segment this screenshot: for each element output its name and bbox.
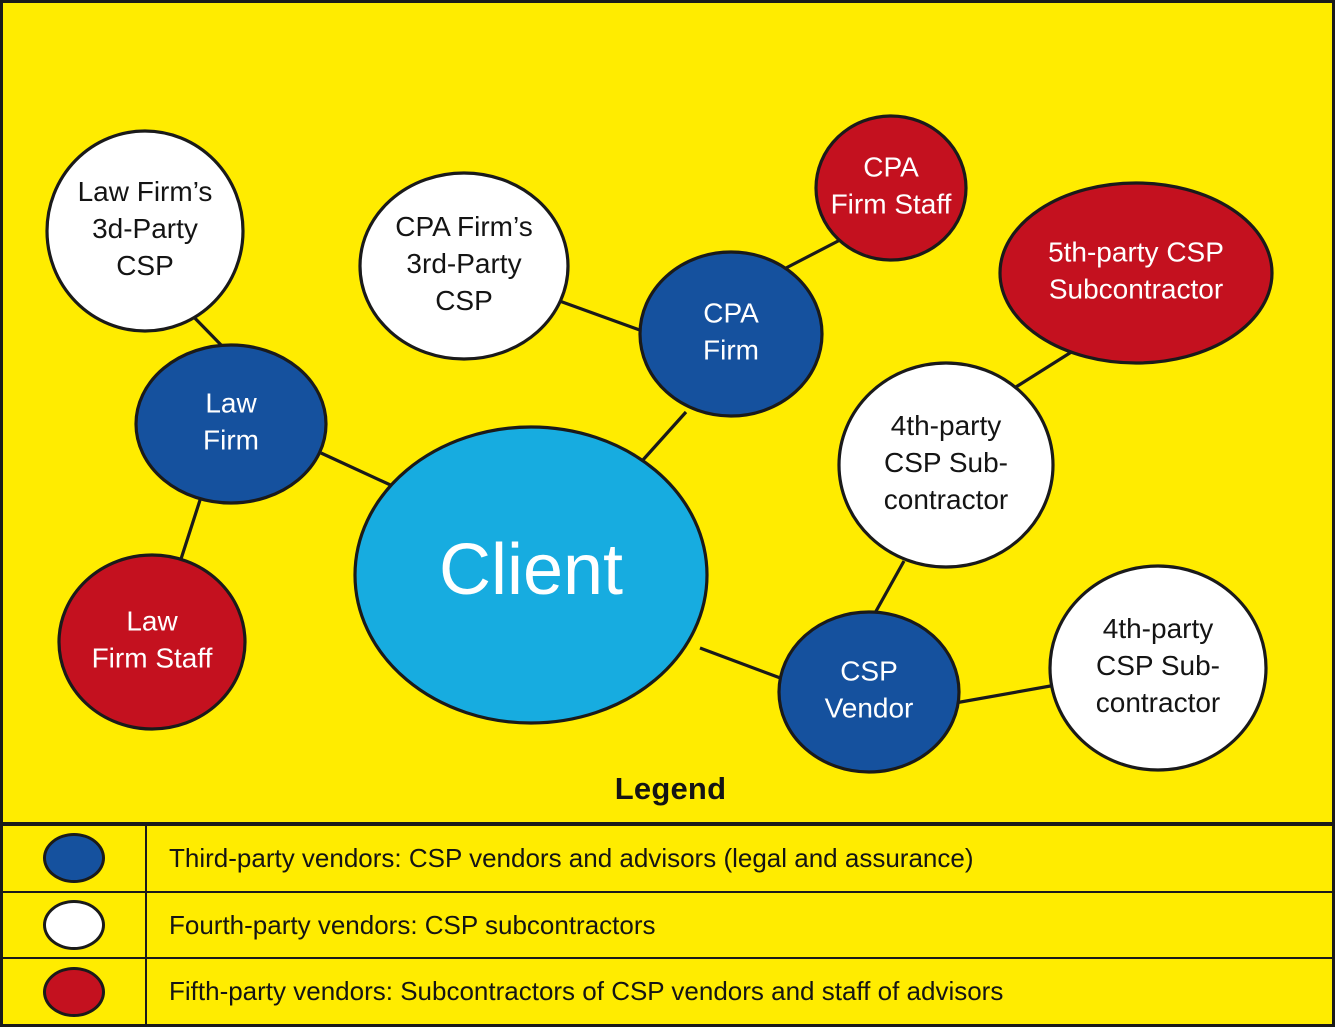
node-label-line: contractor bbox=[1096, 688, 1221, 719]
fourth-party-swatch bbox=[43, 900, 105, 950]
edge-law-firm-to-law-firm-staff bbox=[181, 497, 201, 559]
node-label-fourth-party-csp-subcontractor-2: 4th-partyCSP Sub-contractor bbox=[1096, 613, 1221, 718]
node-label-line: 3d-Party bbox=[92, 213, 198, 244]
node-label-line: contractor bbox=[884, 485, 1009, 516]
node-cpa-firm-3rd-party-csp[interactable]: CPA Firm’s3rd-PartyCSP bbox=[360, 173, 568, 359]
node-label-line: 3rd-Party bbox=[406, 248, 521, 279]
node-label-client: Client bbox=[439, 530, 623, 610]
legend-swatch-cell bbox=[3, 826, 147, 891]
node-shape-law-firm-staff bbox=[59, 555, 245, 729]
node-label-line: CSP Sub- bbox=[1096, 650, 1220, 681]
diagram-canvas: Law Firm’s3d-PartyCSPCPA Firm’s3rd-Party… bbox=[0, 0, 1335, 825]
node-label-line: CPA bbox=[703, 298, 759, 329]
node-shape-fifth-party-csp-subcontractor bbox=[1000, 183, 1272, 363]
legend-swatch-cell bbox=[3, 959, 147, 1024]
edge-law-firm-to-client bbox=[321, 453, 397, 488]
node-layer: Law Firm’s3d-PartyCSPCPA Firm’s3rd-Party… bbox=[47, 116, 1272, 772]
legend-row: Fourth-party vendors: CSP subcontractors bbox=[3, 893, 1332, 960]
node-csp-vendor[interactable]: CSPVendor bbox=[779, 612, 959, 772]
node-fourth-party-csp-subcontractor-2[interactable]: 4th-partyCSP Sub-contractor bbox=[1050, 566, 1266, 770]
node-law-firm-3d-party-csp[interactable]: Law Firm’s3d-PartyCSP bbox=[47, 131, 243, 331]
edge-cpa-firm-3rd-party-csp-to-cpa-firm bbox=[554, 299, 648, 333]
network-diagram-svg: Law Firm’s3d-PartyCSPCPA Firm’s3rd-Party… bbox=[3, 3, 1335, 828]
edge-fourth-party-csp-subcontractor-1-to-csp-vendor bbox=[875, 561, 904, 613]
node-label-line: Firm Staff bbox=[831, 189, 952, 220]
node-shape-csp-vendor bbox=[779, 612, 959, 772]
fifth-party-swatch bbox=[43, 967, 105, 1017]
node-label-line: CPA bbox=[863, 152, 919, 183]
node-label-line: Law bbox=[205, 388, 257, 419]
node-label-line: Subcontractor bbox=[1049, 274, 1223, 305]
node-label-line: Client bbox=[439, 530, 623, 610]
node-fifth-party-csp-subcontractor[interactable]: 5th-party CSPSubcontractor bbox=[1000, 183, 1272, 363]
node-cpa-firm-staff[interactable]: CPAFirm Staff bbox=[816, 116, 966, 260]
legend-row-text: Fourth-party vendors: CSP subcontractors bbox=[147, 893, 1332, 958]
edge-client-to-csp-vendor bbox=[700, 648, 783, 679]
third-party-swatch bbox=[43, 833, 105, 883]
node-client[interactable]: Client bbox=[355, 427, 707, 723]
legend-row: Fifth-party vendors: Subcontractors of C… bbox=[3, 959, 1332, 1024]
node-label-line: 4th-party bbox=[891, 410, 1002, 441]
node-label-line: Firm bbox=[203, 425, 259, 456]
node-label-line: CSP Sub- bbox=[884, 447, 1008, 478]
legend-swatch-cell bbox=[3, 893, 147, 958]
legend-row: Third-party vendors: CSP vendors and adv… bbox=[3, 826, 1332, 893]
node-shape-cpa-firm-staff bbox=[816, 116, 966, 260]
node-shape-law-firm bbox=[136, 345, 326, 503]
node-fourth-party-csp-subcontractor-1[interactable]: 4th-partyCSP Sub-contractor bbox=[839, 363, 1053, 567]
node-label-line: CSP bbox=[435, 286, 493, 317]
node-label-line: CSP bbox=[116, 251, 174, 282]
legend-row-text: Fifth-party vendors: Subcontractors of C… bbox=[147, 959, 1332, 1024]
vendor-ecosystem-diagram-page: Law Firm’s3d-PartyCSPCPA Firm’s3rd-Party… bbox=[0, 0, 1335, 1027]
node-label-line: Law Firm’s bbox=[78, 176, 213, 207]
legend-row-text: Third-party vendors: CSP vendors and adv… bbox=[147, 826, 1332, 891]
node-shape-cpa-firm bbox=[640, 252, 822, 416]
legend-heading: Legend bbox=[3, 771, 1335, 807]
node-label-line: 5th-party CSP bbox=[1048, 237, 1224, 268]
edge-cpa-firm-to-cpa-firm-staff bbox=[786, 239, 842, 268]
node-cpa-firm[interactable]: CPAFirm bbox=[640, 252, 822, 416]
edge-fifth-party-csp-subcontractor-to-fourth-party-csp-subcontractor-1 bbox=[1008, 351, 1073, 392]
node-label-line: CPA Firm’s bbox=[395, 211, 532, 242]
node-label-line: CSP bbox=[840, 656, 898, 687]
node-law-firm[interactable]: LawFirm bbox=[136, 345, 326, 503]
edge-csp-vendor-to-fourth-party-csp-subcontractor-2 bbox=[955, 685, 1056, 703]
node-label-line: Law bbox=[126, 606, 178, 637]
node-law-firm-staff[interactable]: LawFirm Staff bbox=[59, 555, 245, 729]
edge-cpa-firm-to-client bbox=[642, 412, 686, 461]
node-label-line: Firm Staff bbox=[92, 643, 213, 674]
node-label-line: 4th-party bbox=[1103, 613, 1214, 644]
node-label-line: Firm bbox=[703, 335, 759, 366]
legend-table: Third-party vendors: CSP vendors and adv… bbox=[0, 822, 1335, 1027]
node-label-line: Vendor bbox=[825, 693, 914, 724]
node-label-fourth-party-csp-subcontractor-1: 4th-partyCSP Sub-contractor bbox=[884, 410, 1009, 515]
